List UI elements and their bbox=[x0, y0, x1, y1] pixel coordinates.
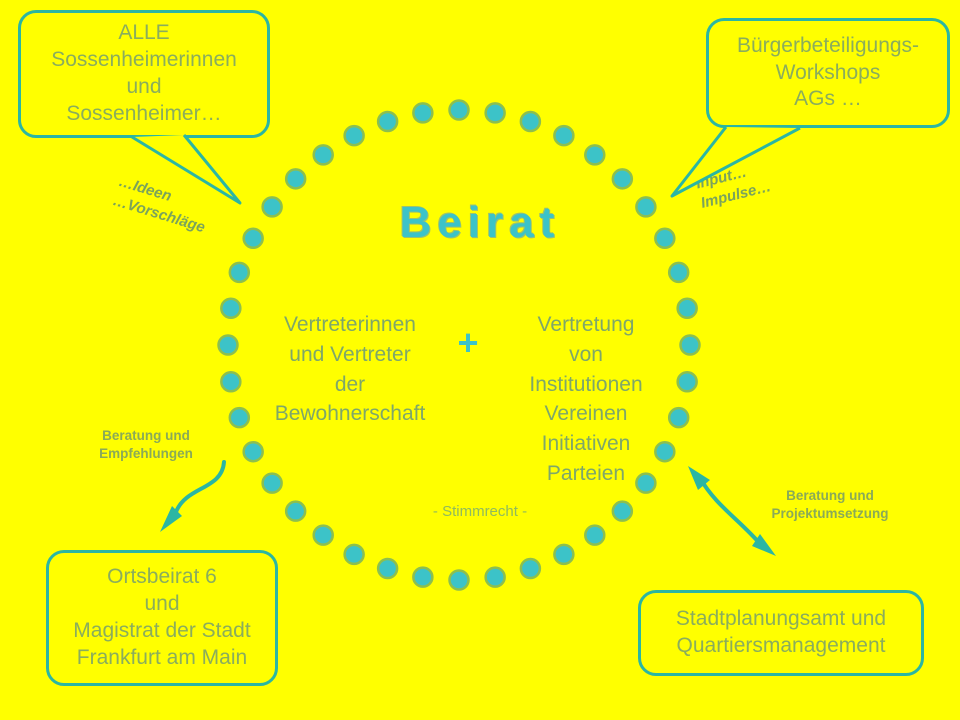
annotation-beratung-empf-line-1: Beratung und bbox=[102, 428, 190, 443]
ring-dot bbox=[585, 526, 604, 545]
right-column-line-1: Vertretung bbox=[538, 313, 635, 336]
ring-dot bbox=[521, 112, 540, 131]
ring-dot bbox=[554, 126, 573, 145]
left-column-line-1: Vertreterinnen bbox=[284, 313, 416, 336]
left-column-line-4: Bewohnerschaft bbox=[275, 402, 426, 425]
left-column-text: Vertreterinnen und Vertreter der Bewohne… bbox=[252, 310, 448, 429]
ring-dot bbox=[230, 408, 249, 427]
ring-dot bbox=[554, 545, 573, 564]
arrow-beratung-empfehlungen bbox=[160, 462, 224, 532]
box-stadtplanung-line-1: Stadtplanungsamt und bbox=[647, 606, 915, 633]
annotation-beratung-empf-line-2: Empfehlungen bbox=[99, 446, 193, 461]
annotation-beratung-projektumsetzung: Beratung und Projektumsetzung bbox=[742, 487, 918, 523]
ring-dot bbox=[413, 103, 432, 122]
box-stadtplanung-line-2: Quartiersmanagement bbox=[647, 633, 915, 660]
annotation-beratung-proj-line-2: Projektumsetzung bbox=[771, 506, 888, 521]
ring-dot bbox=[669, 263, 688, 282]
left-column-line-3: der bbox=[335, 373, 365, 396]
ring-dot bbox=[378, 559, 397, 578]
right-column-line-2: von bbox=[569, 343, 603, 366]
bubble-alle-sossenheimer[interactable]: ALLE Sossenheimerinnen und Sossenheimer… bbox=[18, 10, 270, 138]
ring-dot bbox=[219, 336, 238, 355]
bubble-workshops-line-2: Workshops bbox=[715, 60, 941, 87]
bubble-workshops-line-3: AGs … bbox=[715, 86, 941, 113]
bubble-workshops-line-1: Bürgerbeteiligungs- bbox=[715, 33, 941, 60]
right-column-line-3: Institutionen bbox=[529, 373, 642, 396]
bubble-buergerbeteiligungs-workshops[interactable]: Bürgerbeteiligungs- Workshops AGs … bbox=[706, 18, 950, 128]
ring-dot bbox=[378, 112, 397, 131]
right-column-line-4: Vereinen bbox=[545, 402, 628, 425]
ring-dot bbox=[521, 559, 540, 578]
annotation-beratung-proj-line-1: Beratung und bbox=[786, 488, 874, 503]
bubble-alle-line-1: ALLE bbox=[27, 20, 261, 47]
plus-icon: + bbox=[448, 325, 488, 361]
box-ortsbeirat-line-3: Magistrat der Stadt bbox=[55, 618, 269, 645]
right-column-line-5: Initiativen bbox=[542, 432, 631, 455]
ring-dot bbox=[486, 568, 505, 587]
ring-dot bbox=[263, 474, 282, 493]
ring-dot bbox=[450, 101, 469, 120]
ring-dot bbox=[314, 526, 333, 545]
bubble-alle-line-4: Sossenheimer… bbox=[27, 101, 261, 128]
ring-dot bbox=[345, 126, 364, 145]
ring-dot bbox=[345, 545, 364, 564]
ring-dot bbox=[413, 568, 432, 587]
bubble-alle-line-2: Sossenheimerinnen bbox=[27, 47, 261, 74]
box-ortsbeirat-line-2: und bbox=[55, 591, 269, 618]
box-stadtplanungsamt-quartiersmanagement[interactable]: Stadtplanungsamt und Quartiersmanagement bbox=[638, 590, 924, 676]
ring-dot bbox=[314, 145, 333, 164]
right-column-text: Vertretung von Institutionen Vereinen In… bbox=[488, 310, 684, 489]
ring-dot bbox=[286, 169, 305, 188]
ring-dot bbox=[486, 103, 505, 122]
ring-dot bbox=[244, 442, 263, 461]
ring-dot bbox=[221, 372, 240, 391]
left-column-line-2: und Vertreter bbox=[289, 343, 410, 366]
ring-dot bbox=[221, 299, 240, 318]
right-column-line-6: Parteien bbox=[547, 462, 625, 485]
ring-dot bbox=[230, 263, 249, 282]
diagram-canvas: Beirat Vertreterinnen und Vertreter der … bbox=[0, 0, 960, 720]
ring-dot bbox=[450, 571, 469, 590]
box-ortsbeirat-magistrat[interactable]: Ortsbeirat 6 und Magistrat der Stadt Fra… bbox=[46, 550, 278, 686]
ring-dot bbox=[613, 169, 632, 188]
box-ortsbeirat-line-4: Frankfurt am Main bbox=[55, 645, 269, 672]
ring-dot bbox=[585, 145, 604, 164]
bubble-alle-line-3: und bbox=[27, 74, 261, 101]
box-ortsbeirat-line-1: Ortsbeirat 6 bbox=[55, 564, 269, 591]
annotation-beratung-empfehlungen: Beratung und Empfehlungen bbox=[76, 427, 216, 463]
